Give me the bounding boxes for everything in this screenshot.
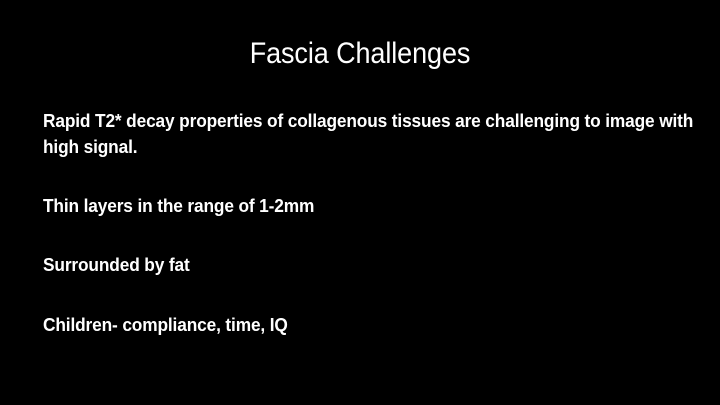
body-paragraph-thin-layers: Thin layers in the range of 1-2mm xyxy=(43,193,702,219)
body-paragraph-decay-properties: Rapid T2* decay properties of collagenou… xyxy=(43,108,702,160)
presentation-slide: Fascia Challenges Rapid T2* decay proper… xyxy=(0,0,720,405)
body-paragraph-surrounded-by-fat: Surrounded by fat xyxy=(43,252,702,278)
page-title: Fascia Challenges xyxy=(36,36,684,72)
body-paragraph-children-compliance: Children- compliance, time, IQ xyxy=(43,312,702,338)
slide-body-content: Rapid T2* decay properties of collagenou… xyxy=(43,108,703,338)
